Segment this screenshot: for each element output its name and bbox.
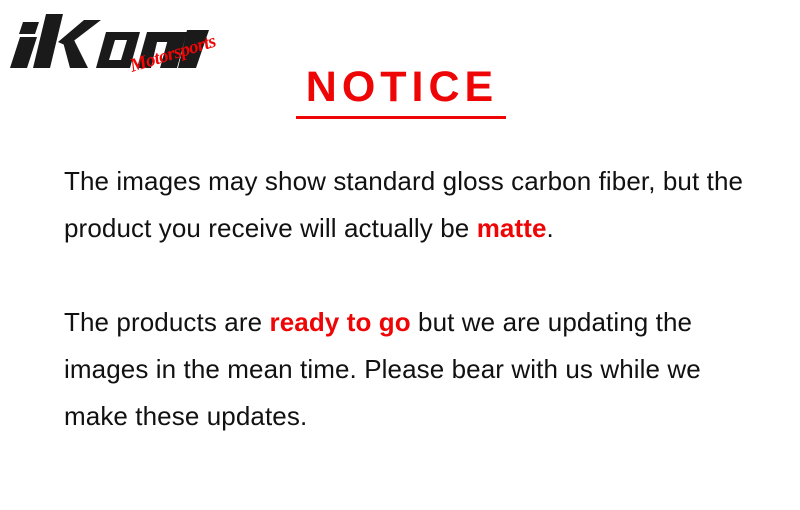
notice-paragraph-2: The products are ready to go but we are … [64, 299, 764, 440]
paragraph-1-highlight-matte: matte [477, 213, 547, 243]
notice-heading: NOTICE [0, 64, 800, 111]
notice-body: The images may show standard gloss carbo… [64, 158, 764, 440]
paragraph-2-text-a: The products are [64, 307, 269, 337]
paragraph-2-highlight-ready-to-go: ready to go [269, 307, 410, 337]
paragraph-1-text-b: . [547, 213, 554, 243]
notice-title-underline [296, 116, 506, 119]
notice-paragraph-1: The images may show standard gloss carbo… [64, 158, 764, 252]
paragraph-1-text-a: The images may show standard gloss carbo… [64, 166, 743, 243]
notice-title: NOTICE [300, 64, 500, 111]
